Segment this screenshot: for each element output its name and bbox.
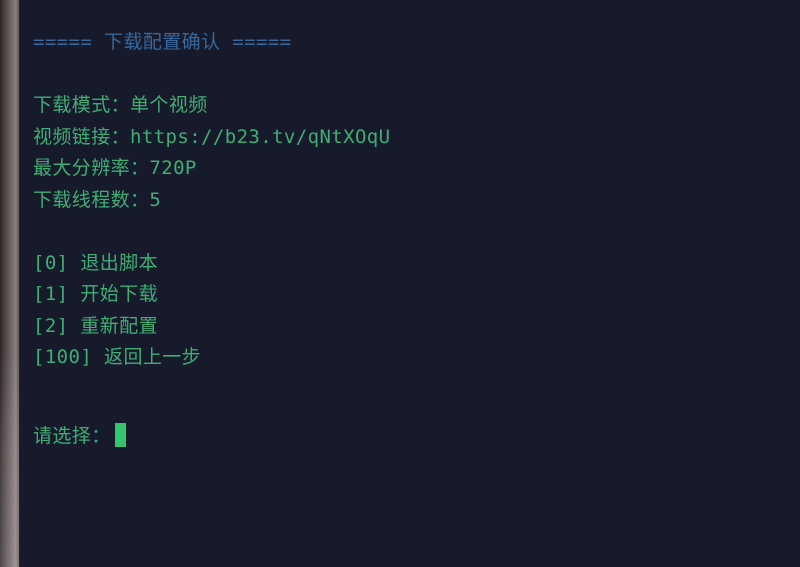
header-right-rule: ===== <box>232 31 291 53</box>
spacer-after-header <box>20 59 800 91</box>
menu-gap-1 <box>69 283 81 305</box>
spacer-after-menu <box>20 374 800 406</box>
header-spacer-left <box>92 31 104 53</box>
terminal-screen: ===== 下载配置确认 ===== 下载模式：单个视频 视频链接：https:… <box>0 0 800 567</box>
header-spacer-right <box>220 31 232 53</box>
terminal-output[interactable]: ===== 下载配置确认 ===== 下载模式：单个视频 视频链接：https:… <box>20 0 800 567</box>
menu-item-reconfigure[interactable]: [2] 重新配置 <box>20 311 800 343</box>
menu-key-start-download: [1] <box>33 283 69 305</box>
spacer-before-prompt <box>20 405 800 421</box>
config-value-download-mode: 单个视频 <box>130 94 208 116</box>
prompt-row[interactable]: 请选择： <box>20 421 800 453</box>
menu-item-go-back[interactable]: [100] 返回上一步 <box>20 342 800 374</box>
menu-key-go-back: [100] <box>33 346 92 368</box>
header-banner: ===== 下载配置确认 ===== <box>20 27 800 59</box>
config-row-thread-count: 下载线程数：5 <box>20 185 800 217</box>
config-label-video-url: 视频链接： <box>33 126 130 148</box>
config-label-thread-count: 下载线程数： <box>33 189 149 211</box>
page-title: 下载配置确认 <box>104 31 220 53</box>
menu-label-go-back: 返回上一步 <box>104 346 201 368</box>
menu-gap-2 <box>69 315 81 337</box>
config-label-download-mode: 下载模式： <box>33 94 130 116</box>
text-cursor <box>115 423 126 447</box>
config-label-max-resolution: 最大分辨率： <box>33 157 149 179</box>
menu-label-exit-script: 退出脚本 <box>80 252 158 274</box>
prompt-label: 请选择： <box>33 425 111 447</box>
header-left-rule: ===== <box>33 31 92 53</box>
menu-gap-3 <box>92 346 104 368</box>
window-edge-strip[interactable] <box>0 0 20 567</box>
spacer-after-config <box>20 216 800 248</box>
config-row-video-url: 视频链接：https://b23.tv/qNtXOqU <box>20 122 800 154</box>
config-value-thread-count: 5 <box>149 189 161 211</box>
config-value-max-resolution: 720P <box>149 157 196 179</box>
menu-item-exit-script[interactable]: [0] 退出脚本 <box>20 248 800 280</box>
menu-label-start-download: 开始下载 <box>80 283 158 305</box>
menu-label-reconfigure: 重新配置 <box>80 315 158 337</box>
config-value-video-url: https://b23.tv/qNtXOqU <box>130 126 390 148</box>
config-row-download-mode: 下载模式：单个视频 <box>20 90 800 122</box>
menu-key-exit-script: [0] <box>33 252 69 274</box>
config-row-max-resolution: 最大分辨率：720P <box>20 153 800 185</box>
menu-gap-0 <box>69 252 81 274</box>
menu-item-start-download[interactable]: [1] 开始下载 <box>20 279 800 311</box>
menu-key-reconfigure: [2] <box>33 315 69 337</box>
